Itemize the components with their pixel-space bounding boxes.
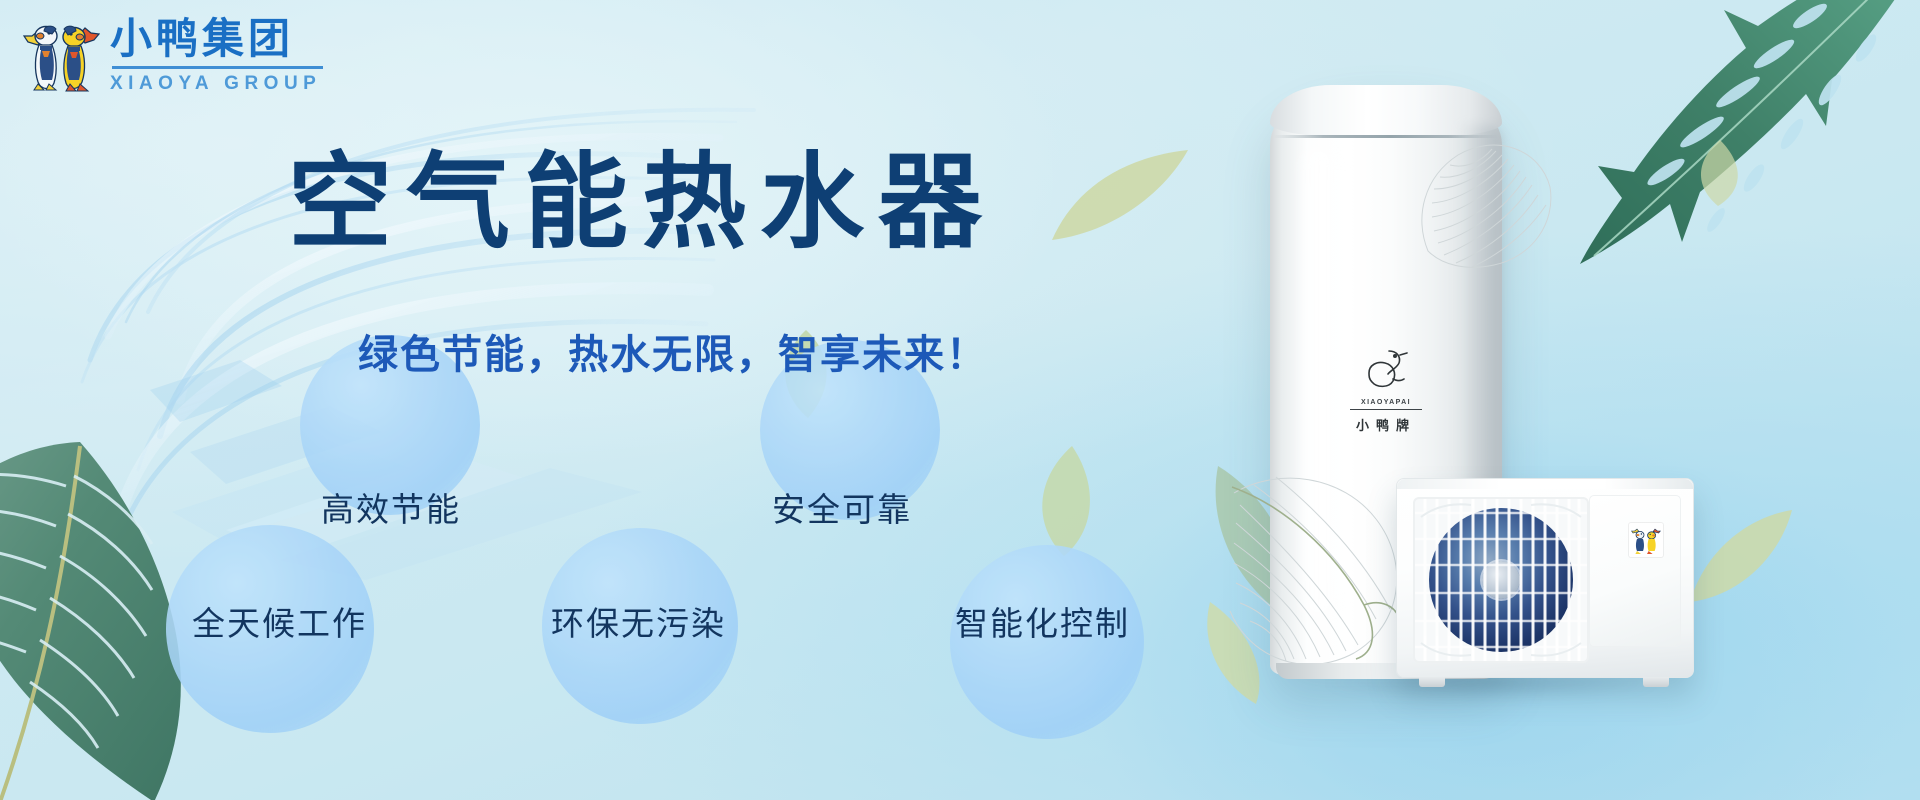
page-subtitle: 绿色节能，热水无限，智享未来！ (358, 335, 988, 375)
tank-brand-cn: 小鸭牌 (1356, 415, 1416, 434)
brand-logo[interactable]: 小鸭集团 XIAOYA GROUP (22, 12, 321, 98)
headline-block: 空气能热水器 绿色节能，热水无限，智享未来！ (0, 0, 1180, 800)
tank-brand-rule (1350, 409, 1422, 410)
product-image-group: XIAOYAPAI 小鸭牌 (1160, 0, 1920, 800)
page-title: 空气能热水器 (288, 150, 996, 254)
outdoor-unit-side-panel (1589, 495, 1681, 647)
outdoor-unit-top (1397, 479, 1693, 489)
duck-outline-icon (1359, 343, 1413, 397)
fan-grille-icon (1413, 497, 1589, 663)
logo-chinese-name: 小鸭集团 (110, 18, 321, 60)
logo-divider (112, 66, 323, 69)
tank-brand-mark: XIAOYAPAI 小鸭牌 (1270, 343, 1502, 434)
two-duck-mascots-icon (22, 12, 100, 98)
tank-brand-en: XIAOYAPAI (1361, 399, 1411, 406)
logo-english-name: XIAOYA GROUP (110, 74, 321, 93)
outdoor-unit-foot (1643, 677, 1669, 687)
promo-banner: 小鸭集团 XIAOYA GROUP 空气能热水器 绿色节能，热水无限，智享未来！… (0, 0, 1920, 800)
outdoor-unit (1396, 478, 1694, 678)
outdoor-unit-foot (1419, 677, 1445, 687)
duck-mascot-badge-icon (1629, 523, 1663, 557)
